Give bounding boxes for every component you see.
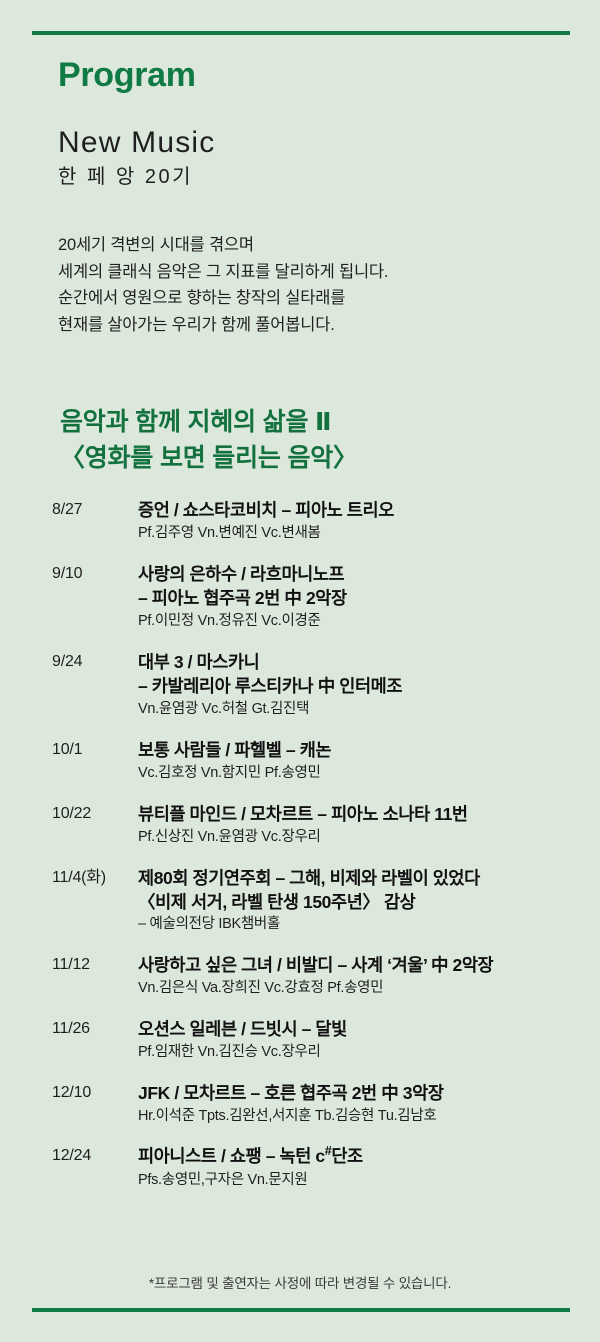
program-subtitle: 〈비제 서거, 라벨 탄생 150주년〉 감상 — [138, 890, 582, 914]
program-date: 8/27 — [52, 498, 138, 521]
program-list: 8/27 증언 / 쇼스타코비치 – 피아노 트리오 Pf.김주영 Vn.변예진… — [52, 498, 582, 1208]
program-details: JFK / 모차르트 – 호른 협주곡 2번 中 3악장 Hr.이석준 Tpts… — [138, 1081, 582, 1128]
program-title: JFK / 모차르트 – 호른 협주곡 2번 中 3악장 — [138, 1081, 582, 1105]
program-performers: Vn.김은식 Va.장희진 Vc.강효정 Pf.송영민 — [138, 978, 582, 1000]
program-performers: Vn.윤염광 Vc.허철 Gt.김진택 — [138, 699, 582, 721]
program-row: 10/1 보통 사람들 / 파헬벨 – 캐논 Vc.김호정 Vn.함지민 Pf.… — [52, 738, 582, 785]
program-title: 사랑하고 싶은 그녀 / 비발디 – 사계 ‘겨울’ 中 2악장 — [138, 953, 582, 977]
program-performers: Pf.이민정 Vn.정유진 Vc.이경준 — [138, 611, 582, 633]
series-subtitle: 한 페 앙 20기 — [58, 165, 558, 189]
top-divider-rule — [32, 31, 570, 35]
program-details: 보통 사람들 / 파헬벨 – 캐논 Vc.김호정 Vn.함지민 Pf.송영민 — [138, 738, 582, 785]
series-title: New Music — [58, 126, 558, 159]
intro-line-3: 순간에서 영원으로 향하는 창작의 실타래를 — [58, 285, 558, 312]
program-date: 9/24 — [52, 650, 138, 673]
program-title: 오션스 일레븐 / 드빗시 – 달빛 — [138, 1017, 582, 1041]
program-title: 사랑의 은하수 / 라흐마니노프 — [138, 562, 582, 586]
program-performers: Vc.김호정 Vn.함지민 Pf.송영민 — [138, 763, 582, 785]
program-title: 증언 / 쇼스타코비치 – 피아노 트리오 — [138, 498, 582, 522]
poster-header: Program New Music 한 페 앙 20기 — [58, 58, 558, 189]
program-details: 증언 / 쇼스타코비치 – 피아노 트리오 Pf.김주영 Vn.변예진 Vc.변… — [138, 498, 582, 545]
program-venue: – 예술의전당 IBK챔버홀 — [138, 914, 582, 936]
program-row: 12/10 JFK / 모차르트 – 호른 협주곡 2번 中 3악장 Hr.이석… — [52, 1081, 582, 1128]
section-heading: 음악과 함께 지혜의 삶을 Ⅱ 〈영화를 보면 들리는 음악〉 — [60, 405, 580, 476]
program-performers: Pfs.송영민,구자은 Vn.문지원 — [138, 1170, 582, 1192]
program-subtitle: – 카발레리아 루스티카나 中 인터메조 — [138, 674, 582, 698]
program-performers: Pf.김주영 Vn.변예진 Vc.변새봄 — [138, 523, 582, 545]
intro-line-4: 현재를 살아가는 우리가 함께 풀어봅니다. — [58, 312, 558, 339]
program-row: 10/22 뷰티플 마인드 / 모차르트 – 피아노 소나타 11번 Pf.신상… — [52, 802, 582, 849]
section-heading-line-2: 〈영화를 보면 들리는 음악〉 — [60, 441, 580, 477]
section-heading-line-1: 음악과 함께 지혜의 삶을 Ⅱ — [60, 405, 580, 441]
program-performers: Hr.이석준 Tpts.김완선,서지훈 Tb.김승현 Tu.김남호 — [138, 1106, 582, 1128]
program-performers: Pf.임재한 Vn.김진승 Vc.장우리 — [138, 1042, 582, 1064]
program-row: 9/24 대부 3 / 마스카니 – 카발레리아 루스티카나 中 인터메조 Vn… — [52, 650, 582, 721]
program-row: 11/26 오션스 일레븐 / 드빗시 – 달빛 Pf.임재한 Vn.김진승 V… — [52, 1017, 582, 1064]
program-date: 10/22 — [52, 802, 138, 825]
program-details: 제80회 정기연주회 – 그해, 비제와 라벨이 있었다 〈비제 서거, 라벨 … — [138, 866, 582, 936]
program-title: 뷰티플 마인드 / 모차르트 – 피아노 소나타 11번 — [138, 802, 582, 826]
program-details: 사랑의 은하수 / 라흐마니노프 – 피아노 협주곡 2번 中 2악장 Pf.이… — [138, 562, 582, 633]
program-title-prefix: 피아니스트 / 쇼팽 – 녹턴 c — [138, 1146, 325, 1166]
intro-paragraph: 20세기 격변의 시대를 겪으며 세계의 클래식 음악은 그 지표를 달리하게 … — [58, 232, 558, 339]
program-date: 11/26 — [52, 1017, 138, 1040]
program-row: 11/4(화) 제80회 정기연주회 – 그해, 비제와 라벨이 있었다 〈비제… — [52, 866, 582, 936]
intro-line-1: 20세기 격변의 시대를 겪으며 — [58, 232, 558, 259]
program-date: 10/1 — [52, 738, 138, 761]
program-poster: Program New Music 한 페 앙 20기 20세기 격변의 시대를… — [0, 0, 600, 1342]
program-date: 11/4(화) — [52, 866, 138, 889]
program-title: 보통 사람들 / 파헬벨 – 캐논 — [138, 738, 582, 762]
page-title: Program — [58, 58, 558, 94]
footnote: *프로그램 및 출연자는 사정에 따라 변경될 수 있습니다. — [0, 1272, 600, 1292]
program-details: 대부 3 / 마스카니 – 카발레리아 루스티카나 中 인터메조 Vn.윤염광 … — [138, 650, 582, 721]
program-title: 피아니스트 / 쇼팽 – 녹턴 c#단조 — [138, 1144, 582, 1168]
program-row: 9/10 사랑의 은하수 / 라흐마니노프 – 피아노 협주곡 2번 中 2악장… — [52, 562, 582, 633]
program-subtitle: – 피아노 협주곡 2번 中 2악장 — [138, 586, 582, 610]
program-row: 11/12 사랑하고 싶은 그녀 / 비발디 – 사계 ‘겨울’ 中 2악장 V… — [52, 953, 582, 1000]
program-performers: Pf.신상진 Vn.윤염광 Vc.장우리 — [138, 827, 582, 849]
program-date: 12/10 — [52, 1081, 138, 1104]
program-date: 12/24 — [52, 1144, 138, 1167]
program-title-suffix: 단조 — [331, 1146, 362, 1166]
program-title: 대부 3 / 마스카니 — [138, 650, 582, 674]
intro-line-2: 세계의 클래식 음악은 그 지표를 달리하게 됩니다. — [58, 259, 558, 286]
program-details: 뷰티플 마인드 / 모차르트 – 피아노 소나타 11번 Pf.신상진 Vn.윤… — [138, 802, 582, 849]
bottom-divider-rule — [32, 1308, 570, 1312]
program-row: 8/27 증언 / 쇼스타코비치 – 피아노 트리오 Pf.김주영 Vn.변예진… — [52, 498, 582, 545]
program-date: 11/12 — [52, 953, 138, 976]
program-details: 피아니스트 / 쇼팽 – 녹턴 c#단조 Pfs.송영민,구자은 Vn.문지원 — [138, 1144, 582, 1191]
program-details: 오션스 일레븐 / 드빗시 – 달빛 Pf.임재한 Vn.김진승 Vc.장우리 — [138, 1017, 582, 1064]
program-title: 제80회 정기연주회 – 그해, 비제와 라벨이 있었다 — [138, 866, 582, 890]
program-row: 12/24 피아니스트 / 쇼팽 – 녹턴 c#단조 Pfs.송영민,구자은 V… — [52, 1144, 582, 1191]
program-details: 사랑하고 싶은 그녀 / 비발디 – 사계 ‘겨울’ 中 2악장 Vn.김은식 … — [138, 953, 582, 1000]
program-date: 9/10 — [52, 562, 138, 585]
